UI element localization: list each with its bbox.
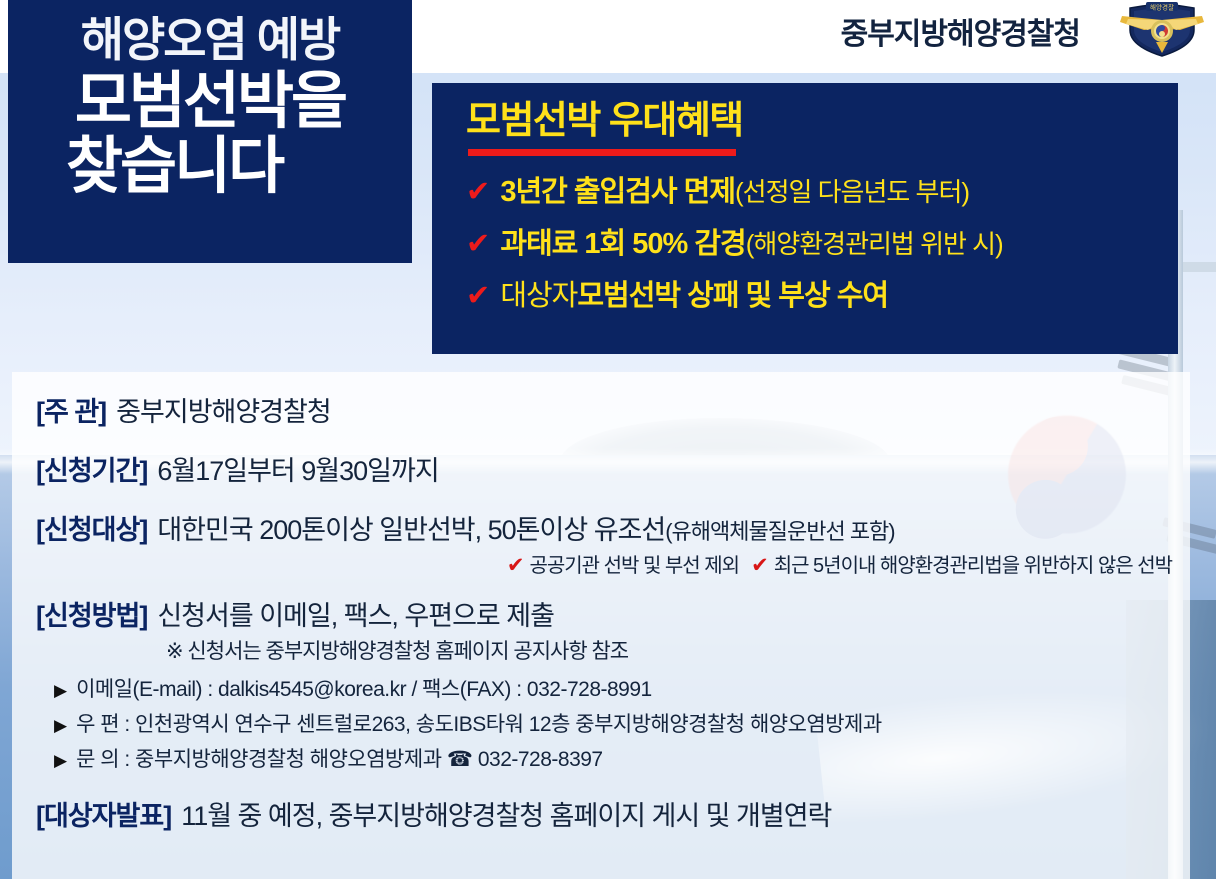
target-value: 대한민국 200톤이상 일반선박, 50톤이상 유조선 — [157, 508, 665, 547]
check-icon: ✔ — [751, 554, 768, 577]
headline-line-1: 해양오염 예방 — [8, 14, 412, 67]
contact-email-row: ▶ 이메일(E-mail) : dalkis4545@korea.kr / 팩스… — [54, 673, 1190, 703]
benefit-main-text: 과태료 1회 50% 감경 — [500, 220, 745, 262]
mast-arm — [1183, 262, 1216, 272]
target-condition-1: 공공기관 선박 및 부선 제외 — [529, 555, 739, 577]
check-icon: ✔ — [507, 554, 524, 577]
benefit-note-text: (해양환경관리법 위반 시) — [746, 224, 1003, 261]
target-conditions-row: ✔공공기관 선박 및 부선 제외✔최근 5년이내 해양환경관리법을 위반하지 않… — [36, 549, 1190, 578]
contact-phone-row: ▶ 문 의 : 중부지방해양경찰청 해양오염방제과 ☎ 032-728-8397 — [54, 743, 1190, 773]
check-icon: ✔ — [466, 178, 490, 207]
host-value: 중부지방해양경찰청 — [116, 390, 331, 429]
target-label: [신청대상] — [36, 508, 147, 547]
result-row: [대상자발표] 11월 중 예정, 중부지방해양경찰청 홈페이지 게시 및 개별… — [36, 794, 1190, 833]
result-value: 11월 중 예정, 중부지방해양경찰청 홈페이지 게시 및 개별연락 — [181, 794, 831, 833]
method-row: [신청방법] 신청서를 이메일, 팩스, 우편으로 제출 — [36, 594, 1190, 633]
svg-text:해양경찰: 해양경찰 — [1150, 3, 1174, 12]
contact-post-text: 우 편 : 인천광역시 연수구 센트럴로263, 송도IBS타워 12층 중부지… — [76, 708, 882, 738]
method-value: 신청서를 이메일, 팩스, 우편으로 제출 — [157, 594, 554, 633]
target-condition-2: 최근 5년이내 해양환경관리법을 위반하지 않은 선박 — [774, 555, 1172, 577]
poster-root: 중부지방해양경찰청 해양경찰 해양오염 예방 모범선박을 찾습니다 모범선박 우… — [0, 0, 1216, 879]
benefit-item: ✔ 대상자 모범선박 상패 및 부상 수여 — [466, 272, 1178, 314]
contact-phone-text: 문 의 : 중부지방해양경찰청 해양오염방제과 ☎ 032-728-8397 — [76, 743, 603, 773]
host-label: [주 관] — [36, 390, 106, 429]
period-value: 6월17일부터 9월30일까지 — [157, 449, 438, 488]
info-panel: [주 관] 중부지방해양경찰청 [신청기간] 6월17일부터 9월30일까지 [… — [12, 372, 1190, 879]
headline-line-2: 모범선박을 — [8, 69, 412, 134]
triangle-bullet-icon: ▶ — [54, 716, 67, 736]
triangle-bullet-icon: ▶ — [54, 681, 67, 701]
benefit-lead-text: 대상자 — [500, 272, 577, 314]
benefit-note-text: (선정일 다음년도 부터) — [735, 172, 969, 209]
method-note: ※ 신청서는 중부지방해양경찰청 홈페이지 공지사항 참조 — [36, 635, 1190, 665]
benefit-main-text: 모범선박 상패 및 부상 수여 — [577, 272, 888, 314]
benefits-title: 모범선박 우대혜택 — [466, 101, 743, 143]
benefit-item: ✔ 과태료 1회 50% 감경 (해양환경관리법 위반 시) — [466, 220, 1178, 262]
method-label: [신청방법] — [36, 594, 147, 633]
headline-box: 해양오염 예방 모범선박을 찾습니다 — [8, 0, 412, 263]
period-label: [신청기간] — [36, 449, 147, 488]
period-row: [신청기간] 6월17일부터 9월30일까지 — [36, 449, 1190, 488]
headline-line-3: 찾습니다 — [8, 134, 412, 199]
result-label: [대상자발표] — [36, 794, 171, 833]
target-row: [신청대상] 대한민국 200톤이상 일반선박, 50톤이상 유조선 (유해액체… — [36, 508, 1190, 547]
triangle-bullet-icon: ▶ — [54, 751, 67, 771]
benefit-main-text: 3년간 출입검사 면제 — [500, 168, 735, 210]
korea-coast-guard-emblem-icon: 해양경찰 — [1116, 0, 1208, 58]
check-icon: ✔ — [466, 230, 490, 259]
benefits-underline — [468, 149, 736, 156]
organization-name: 중부지방해양경찰청 — [841, 9, 1080, 53]
benefit-item: ✔ 3년간 출입검사 면제 (선정일 다음년도 부터) — [466, 168, 1178, 210]
benefits-box: 모범선박 우대혜택 ✔ 3년간 출입검사 면제 (선정일 다음년도 부터) ✔ … — [432, 83, 1178, 354]
contact-post-row: ▶ 우 편 : 인천광역시 연수구 센트럴로263, 송도IBS타워 12층 중… — [54, 708, 1190, 738]
target-value-note: (유해액체물질운반선 포함) — [665, 514, 894, 546]
check-icon: ✔ — [466, 282, 490, 311]
contact-email-text: 이메일(E-mail) : dalkis4545@korea.kr / 팩스(F… — [76, 673, 652, 703]
host-row: [주 관] 중부지방해양경찰청 — [36, 390, 1190, 429]
